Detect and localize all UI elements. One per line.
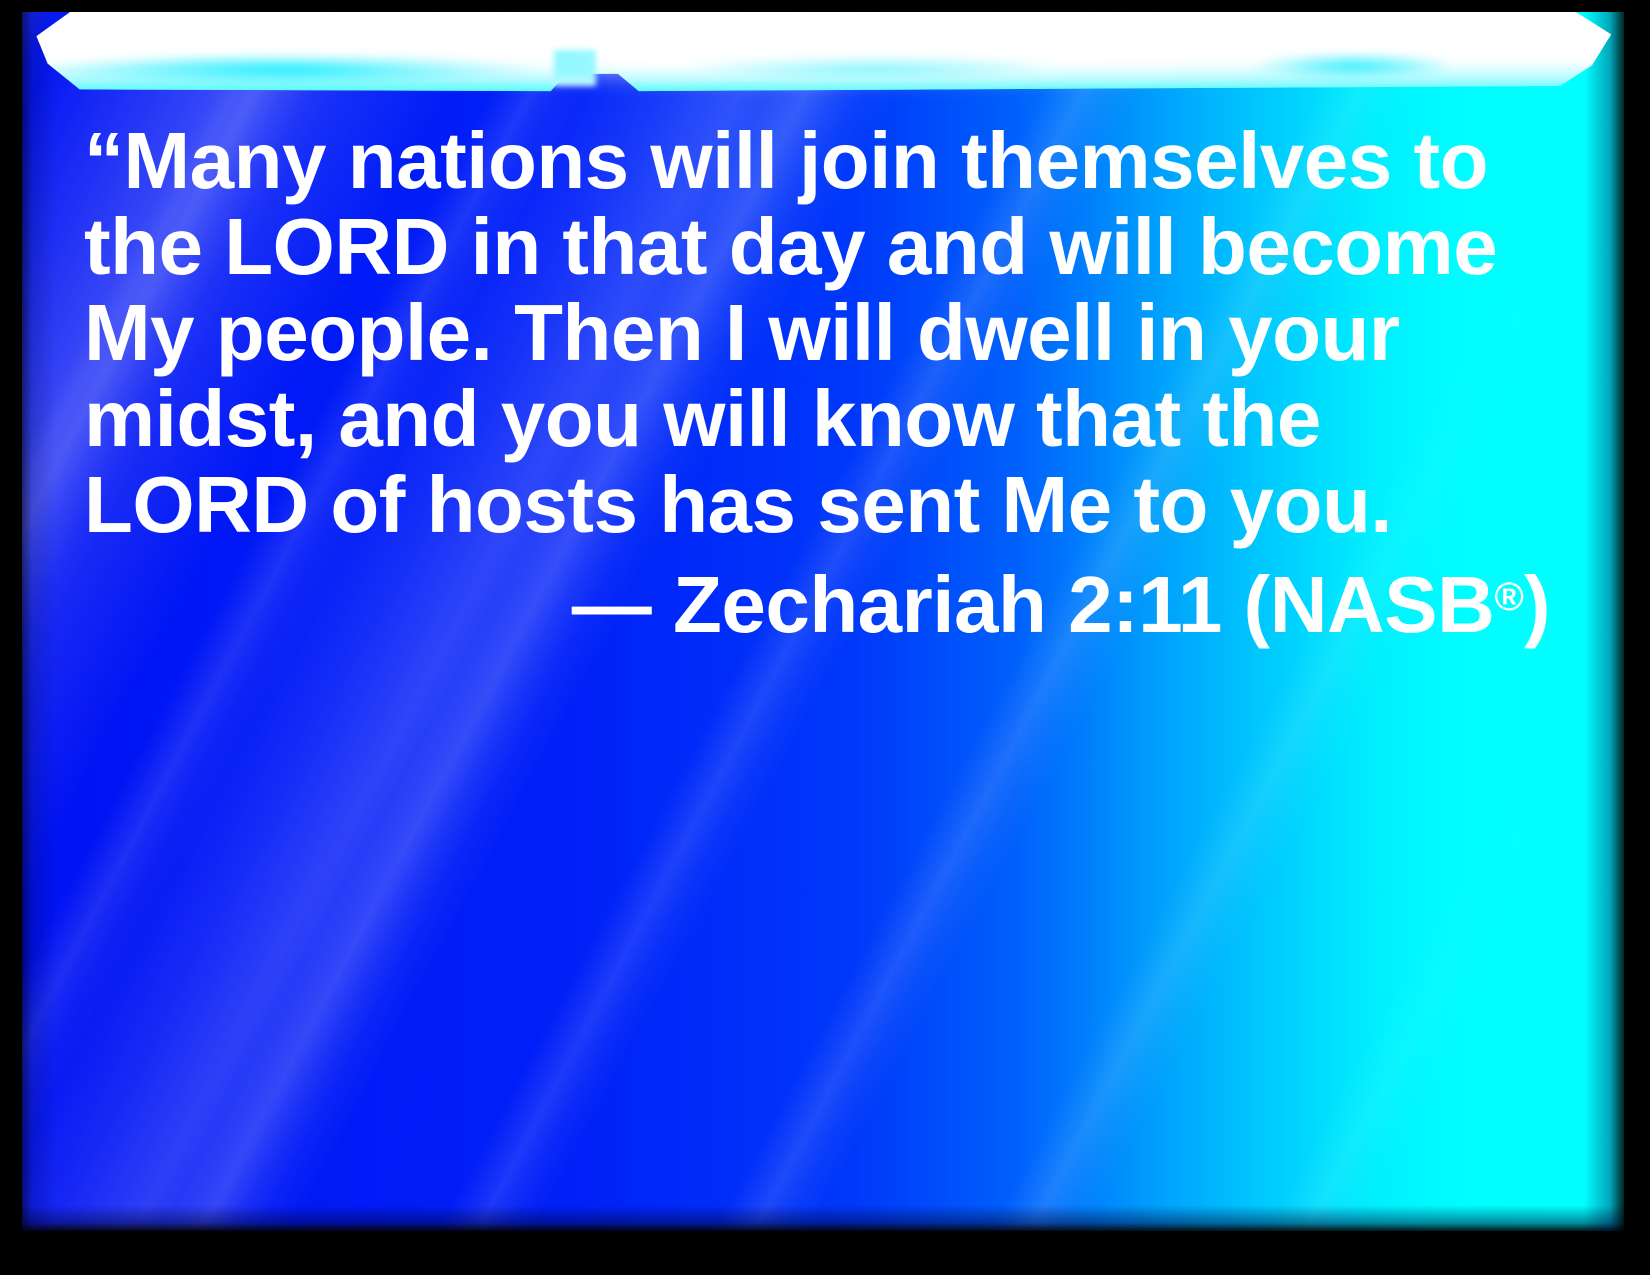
attribution-main: — Zechariah 2:11 (NASB (572, 560, 1495, 649)
registered-trademark-icon: ® (1494, 575, 1523, 619)
scripture-slide: “Many nations will join themselves to th… (0, 0, 1650, 1275)
attribution-closing-paren: ) (1524, 560, 1550, 649)
glow-band-notch (554, 50, 596, 86)
verse-attribution: — Zechariah 2:11 (NASB®) (84, 554, 1554, 648)
glow-band-cyan-accent (22, 12, 1624, 98)
verse-block: “Many nations will join themselves to th… (84, 118, 1554, 648)
slide-canvas: “Many nations will join themselves to th… (22, 12, 1624, 1231)
verse-body-text: “Many nations will join themselves to th… (84, 118, 1554, 548)
top-glow-band (22, 12, 1624, 98)
